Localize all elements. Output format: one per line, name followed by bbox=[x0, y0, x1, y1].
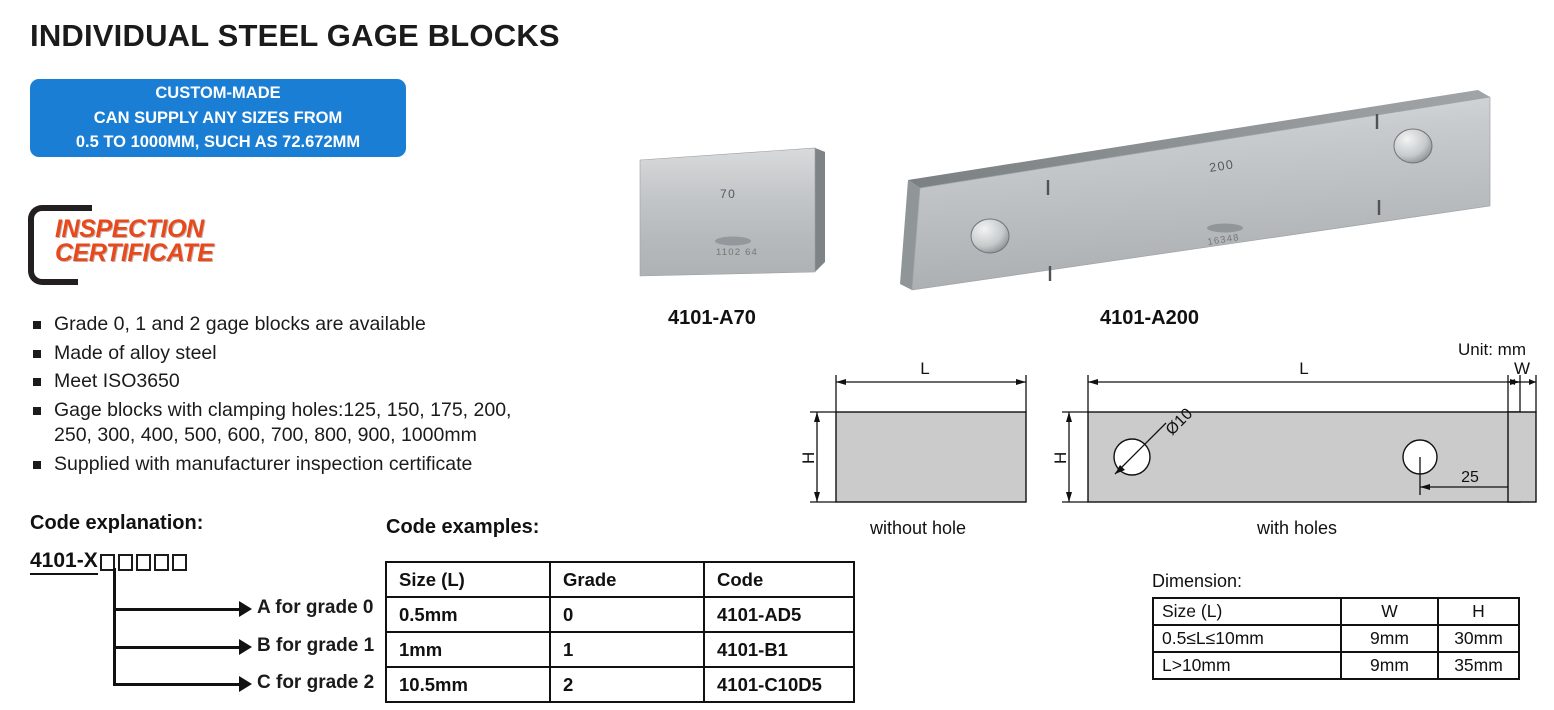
photo-caption-small: 4101-A70 bbox=[668, 307, 756, 330]
product-photo-small-block: 70 1102 64 bbox=[625, 140, 845, 300]
dimension-table: Size (L) W H 0.5≤L≤10mm 9mm 30mm L>10mm … bbox=[1152, 597, 1520, 680]
technical-drawings: L H L H Ø10 25 W bbox=[800, 360, 1554, 515]
inspection-logo-line-1: INSPECTION bbox=[55, 217, 214, 241]
bullet-square-icon bbox=[33, 461, 41, 469]
cell-size: 0.5mm bbox=[386, 597, 550, 632]
arrow-line-b bbox=[113, 646, 241, 649]
feature-list: Grade 0, 1 and 2 gage blocks are availab… bbox=[30, 312, 630, 480]
code-pattern-prefix: 4101-X bbox=[30, 549, 98, 575]
engraved-serial: 1102 64 bbox=[716, 247, 758, 258]
feature-text-continued: 250, 300, 400, 500, 600, 700, 800, 900, … bbox=[54, 423, 630, 449]
arrow-label-c: C for grade 2 bbox=[257, 672, 374, 694]
arrow-head-c bbox=[239, 676, 252, 692]
bullet-square-icon bbox=[33, 378, 41, 386]
column-header-size: Size (L) bbox=[386, 562, 550, 597]
inspection-certificate-text: INSPECTION CERTIFICATE bbox=[55, 217, 214, 266]
column-header-grade: Grade bbox=[550, 562, 704, 597]
list-item: Grade 0, 1 and 2 gage blocks are availab… bbox=[30, 312, 630, 338]
arrow-line-a bbox=[113, 608, 241, 611]
dim-label-H-with-holes: H bbox=[1051, 452, 1070, 464]
dim-label-L-without-hole: L bbox=[920, 360, 929, 378]
cell-size: 10.5mm bbox=[386, 667, 550, 702]
cell-grade: 1 bbox=[550, 632, 704, 667]
dim-label-edge-distance: 25 bbox=[1461, 469, 1479, 486]
table-row: 1mm 1 4101-B1 bbox=[386, 632, 854, 667]
table-row: L>10mm 9mm 35mm bbox=[1153, 652, 1519, 679]
page-title: INDIVIDUAL STEEL GAGE BLOCKS bbox=[30, 18, 560, 54]
list-item: Meet ISO3650 bbox=[30, 369, 630, 395]
table-header-row: Size (L) Grade Code bbox=[386, 562, 854, 597]
feature-text: Gage blocks with clamping holes:125, 150… bbox=[54, 399, 511, 421]
feature-text: Meet ISO3650 bbox=[54, 370, 180, 392]
arrow-label-a: A for grade 0 bbox=[257, 597, 374, 619]
arrow-head-b bbox=[239, 639, 252, 655]
table-header-row: Size (L) W H bbox=[1153, 598, 1519, 625]
column-header-w: W bbox=[1341, 598, 1438, 625]
cell-code: 4101-C10D5 bbox=[704, 667, 854, 702]
list-item: Made of alloy steel bbox=[30, 341, 630, 367]
dim-label-L-with-holes: L bbox=[1299, 360, 1308, 378]
cell-grade: 0 bbox=[550, 597, 704, 632]
cell-size: 0.5≤L≤10mm bbox=[1153, 625, 1341, 652]
feature-text: Grade 0, 1 and 2 gage blocks are availab… bbox=[54, 313, 426, 335]
code-explanation-arrows: A for grade 0 B for grade 1 C for grade … bbox=[100, 568, 360, 693]
cell-size: L>10mm bbox=[1153, 652, 1341, 679]
cell-code: 4101-AD5 bbox=[704, 597, 854, 632]
arrow-line-c bbox=[113, 683, 241, 686]
code-examples-heading: Code examples: bbox=[386, 516, 539, 539]
table-row: 0.5mm 0 4101-AD5 bbox=[386, 597, 854, 632]
custom-made-line-2: CAN SUPPLY ANY SIZES FROM bbox=[94, 106, 342, 130]
feature-text: Made of alloy steel bbox=[54, 342, 217, 364]
bullet-square-icon bbox=[33, 407, 41, 415]
catalog-page: INDIVIDUAL STEEL GAGE BLOCKS CUSTOM-MADE… bbox=[0, 0, 1554, 710]
code-examples-table: Size (L) Grade Code 0.5mm 0 4101-AD5 1mm… bbox=[385, 561, 855, 703]
custom-made-line-3: 0.5 TO 1000MM, SUCH AS 72.672MM bbox=[76, 130, 360, 154]
cell-w: 9mm bbox=[1341, 652, 1438, 679]
drawing-caption-with-holes: with holes bbox=[1257, 518, 1337, 539]
code-explanation-heading: Code explanation: bbox=[30, 512, 203, 535]
dim-label-H-without-hole: H bbox=[800, 452, 818, 464]
arrow-head-a bbox=[239, 601, 252, 617]
engraved-size: 70 bbox=[720, 187, 736, 201]
column-header-code: Code bbox=[704, 562, 854, 597]
custom-made-line-1: CUSTOM-MADE bbox=[155, 81, 280, 105]
dim-label-W: W bbox=[1514, 360, 1530, 378]
bracket-top-icon bbox=[66, 205, 92, 211]
drawing-caption-without-hole: without hole bbox=[870, 518, 966, 539]
inspection-certificate-logo: INSPECTION CERTIFICATE bbox=[28, 203, 258, 279]
cell-h: 30mm bbox=[1438, 625, 1519, 652]
cell-h: 35mm bbox=[1438, 652, 1519, 679]
cell-size: 1mm bbox=[386, 632, 550, 667]
product-photo-long-block: 200 16348 bbox=[890, 88, 1500, 303]
unit-label: Unit: mm bbox=[1458, 340, 1526, 360]
photo-caption-long: 4101-A200 bbox=[1100, 307, 1199, 330]
table-row: 10.5mm 2 4101-C10D5 bbox=[386, 667, 854, 702]
cell-code: 4101-B1 bbox=[704, 632, 854, 667]
custom-made-badge: CUSTOM-MADE CAN SUPPLY ANY SIZES FROM 0.… bbox=[30, 79, 406, 157]
bullet-square-icon bbox=[33, 350, 41, 358]
list-item: Supplied with manufacturer inspection ce… bbox=[30, 452, 630, 478]
column-header-h: H bbox=[1438, 598, 1519, 625]
cell-grade: 2 bbox=[550, 667, 704, 702]
column-header-size: Size (L) bbox=[1153, 598, 1341, 625]
feature-text: Supplied with manufacturer inspection ce… bbox=[54, 453, 472, 475]
inspection-logo-line-2: CERTIFICATE bbox=[55, 241, 214, 265]
arrow-label-b: B for grade 1 bbox=[257, 635, 374, 657]
bullet-square-icon bbox=[33, 321, 41, 329]
list-item: Gage blocks with clamping holes:125, 150… bbox=[30, 398, 630, 449]
table-row: 0.5≤L≤10mm 9mm 30mm bbox=[1153, 625, 1519, 652]
dimension-heading: Dimension: bbox=[1152, 571, 1242, 592]
arrow-trunk-line bbox=[113, 568, 116, 685]
cell-w: 9mm bbox=[1341, 625, 1438, 652]
